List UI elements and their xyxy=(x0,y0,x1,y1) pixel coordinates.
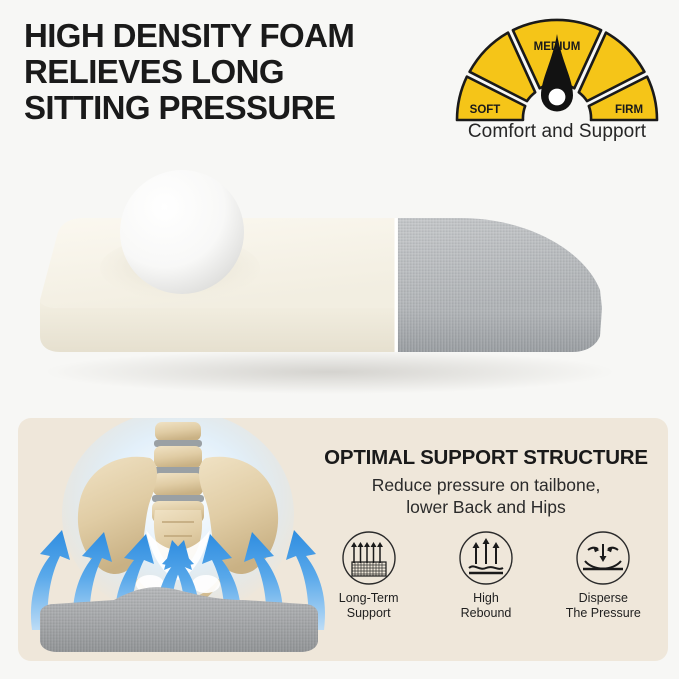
gauge-label-firm: FIRM xyxy=(615,104,643,116)
feature-label-line-1: Long-Term xyxy=(319,591,419,606)
grid-upward-arrows-icon xyxy=(341,530,397,586)
panel-title: OPTIMAL SUPPORT STRUCTURE xyxy=(310,446,662,470)
panel-subtitle: Reduce pressure on tailbone, lower Back … xyxy=(310,474,662,518)
gauge-label-soft: SOFT xyxy=(470,104,501,116)
gauge-label-medium: MEDIUM xyxy=(534,41,581,53)
hero-product-image xyxy=(0,140,679,405)
feature-high-rebound: High Rebound xyxy=(436,530,536,621)
headline-line-2: RELIEVES LONG xyxy=(24,54,454,90)
feature-label-line-1: High xyxy=(436,591,536,606)
feature-long-term-support: Long-Term Support xyxy=(319,530,419,621)
feature-label-line-2: Rebound xyxy=(436,606,536,621)
pelvis-cushion-illustration xyxy=(18,418,338,661)
headline-line-1: HIGH DENSITY FOAM xyxy=(24,18,454,54)
headline-line-3: SITTING PRESSURE xyxy=(24,90,454,126)
disperse-arrows-icon xyxy=(575,530,631,586)
feature-label: Disperse The Pressure xyxy=(553,591,653,621)
panel-subtitle-line-1: Reduce pressure on tailbone, xyxy=(310,474,662,496)
spine-illustration xyxy=(152,422,204,523)
feature-label-line-2: The Pressure xyxy=(553,606,653,621)
feature-list: Long-Term Support xyxy=(310,530,662,621)
feature-label: High Rebound xyxy=(436,591,536,621)
infographic-root: HIGH DENSITY FOAM RELIEVES LONG SITTING … xyxy=(0,0,679,679)
pressure-test-sphere xyxy=(120,170,244,294)
optimal-support-panel: OPTIMAL SUPPORT STRUCTURE Reduce pressur… xyxy=(18,418,668,661)
foam-cushion-illustration xyxy=(0,140,679,405)
panel-subtitle-line-2: lower Back and Hips xyxy=(310,496,662,518)
firmness-gauge-icon: SOFT MEDIUM FIRM xyxy=(449,16,665,124)
wave-upward-arrows-icon xyxy=(458,530,514,586)
page-title: HIGH DENSITY FOAM RELIEVES LONG SITTING … xyxy=(24,18,454,126)
feature-label-line-1: Disperse xyxy=(553,591,653,606)
feature-label: Long-Term Support xyxy=(319,591,419,621)
feature-label-line-2: Support xyxy=(319,606,419,621)
feature-disperse-pressure: Disperse The Pressure xyxy=(553,530,653,621)
firmness-gauge: SOFT MEDIUM FIRM Comfort and Support xyxy=(446,16,668,146)
